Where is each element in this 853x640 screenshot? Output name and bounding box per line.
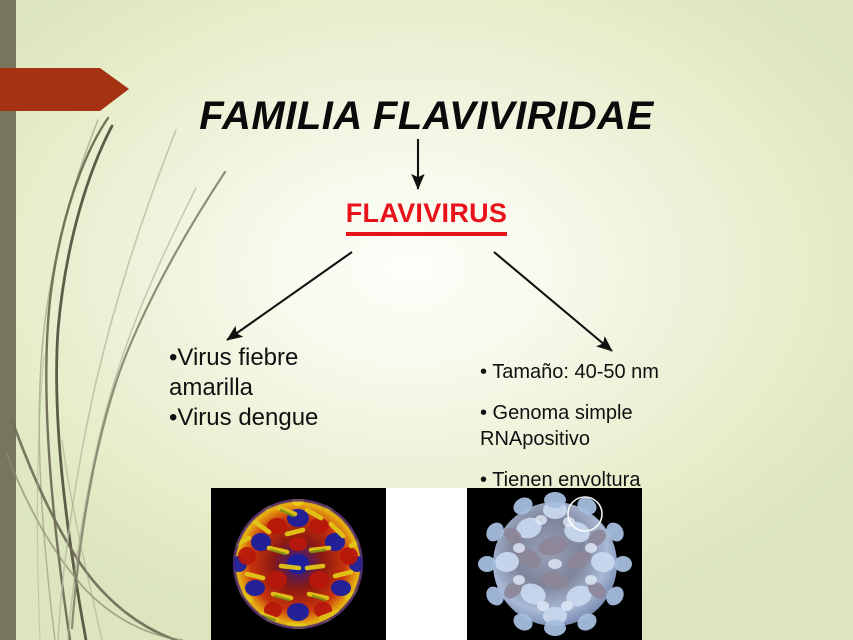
list-item: • Tamaño: 40-50 nm <box>480 359 740 385</box>
image-gap <box>386 488 467 640</box>
virus-image-yellow-fever <box>211 488 386 640</box>
subtitle-container: FLAVIVIRUS <box>0 198 853 236</box>
subtitle-flavivirus: FLAVIVIRUS <box>346 198 508 236</box>
page-title: FAMILIA FLAVIVIRIDAE <box>0 94 853 139</box>
image-band <box>211 488 642 640</box>
list-item: •Virus fiebre amarilla <box>169 343 389 403</box>
virus-image-dengue <box>467 488 642 640</box>
slide-canvas: FAMILIA FLAVIVIRIDAE FLAVIVIRUS •Virus f… <box>0 0 853 640</box>
list-item: • Genoma simple RNApositivo <box>480 400 740 452</box>
left-bullet-list: •Virus fiebre amarilla •Virus dengue <box>169 343 389 433</box>
virion-graphic-1 <box>211 488 386 640</box>
virion-graphic-2 <box>467 488 642 640</box>
arrow-right-icon <box>494 252 612 351</box>
right-bullet-list: • Tamaño: 40-50 nm • Genoma simple RNApo… <box>480 359 740 493</box>
arrow-left-icon <box>227 252 352 340</box>
list-item: •Virus dengue <box>169 403 389 433</box>
